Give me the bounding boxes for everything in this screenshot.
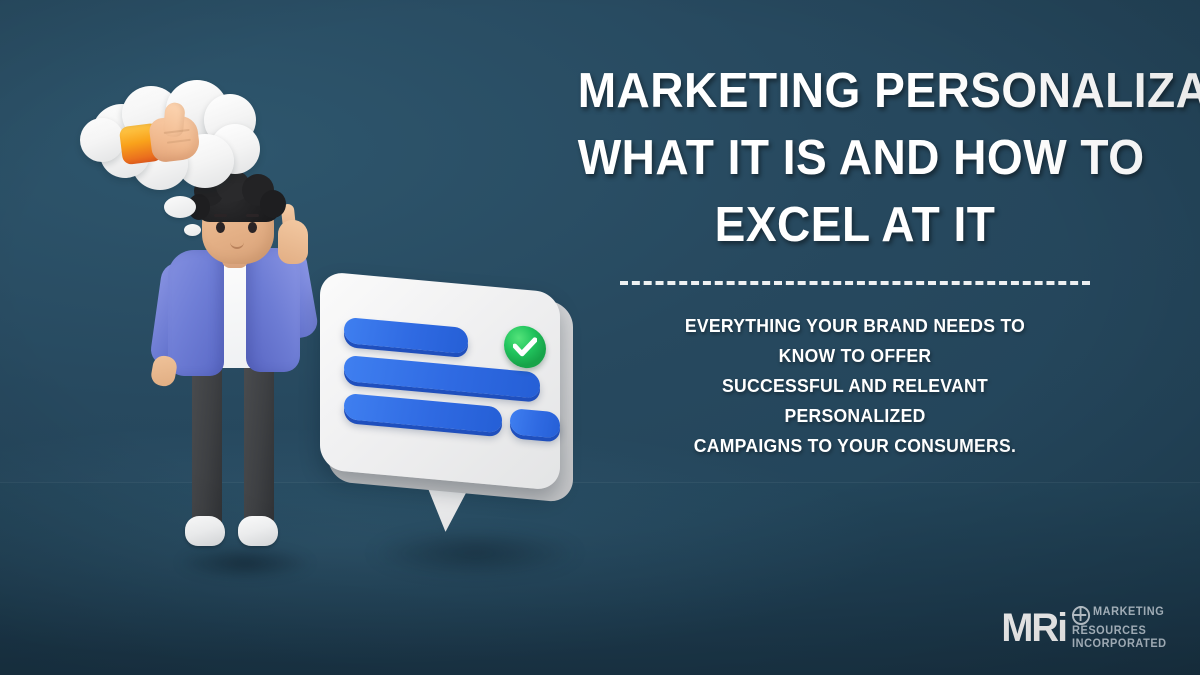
eyebrow-right bbox=[246, 214, 259, 217]
headline-block: MARKETING PERSONALIZATION: WHAT IT IS AN… bbox=[560, 58, 1150, 461]
thought-bubble bbox=[80, 78, 265, 198]
eye-left bbox=[216, 222, 225, 233]
shoe-left bbox=[185, 516, 225, 546]
brand-logo: MRi MARKETING RESOURCES INCORPORATED bbox=[1000, 606, 1172, 650]
content-bar bbox=[344, 393, 502, 433]
eyebrow-left bbox=[214, 214, 227, 217]
headline-line-1: MARKETING PERSONALIZATION: bbox=[578, 58, 1133, 125]
subcopy-line-1: EVERYTHING YOUR BRAND NEEDS TO KNOW TO O… bbox=[656, 311, 1055, 371]
hand-right bbox=[278, 220, 308, 264]
thumbs-up-icon bbox=[117, 99, 212, 171]
subcopy-block: EVERYTHING YOUR BRAND NEEDS TO KNOW TO O… bbox=[656, 311, 1055, 461]
speech-bubble-card bbox=[318, 278, 570, 528]
globe-icon bbox=[1072, 606, 1090, 625]
leg-right bbox=[244, 348, 274, 528]
thought-dot-small bbox=[184, 224, 201, 236]
logo-word-resources: RESOURCES bbox=[1072, 625, 1167, 638]
eye-right bbox=[248, 222, 257, 233]
headline-line-2: WHAT IT IS AND HOW TO bbox=[578, 125, 1133, 192]
subcopy-line-3: CAMPAIGNS TO YOUR CONSUMERS. bbox=[656, 431, 1055, 461]
cloud-lobe bbox=[80, 118, 124, 162]
poster-canvas: MARKETING PERSONALIZATION: WHAT IT IS AN… bbox=[0, 0, 1200, 675]
headline-line-3: EXCEL AT IT bbox=[578, 192, 1133, 259]
jacket-right-panel bbox=[246, 248, 300, 372]
thought-dot-large bbox=[164, 196, 196, 218]
content-bar bbox=[344, 317, 468, 354]
logo-wordmark: MRi bbox=[1001, 608, 1066, 648]
dashed-divider bbox=[620, 281, 1090, 285]
character-legs bbox=[182, 348, 292, 538]
logo-tagline: MARKETING RESOURCES INCORPORATED bbox=[1072, 606, 1172, 650]
shoe-right bbox=[238, 516, 278, 546]
jacket-left-panel bbox=[168, 250, 224, 376]
subcopy-line-2: SUCCESSFUL AND RELEVANT PERSONALIZED bbox=[656, 371, 1055, 431]
card-content-bars bbox=[318, 267, 570, 505]
speech-card-shadow bbox=[330, 520, 620, 586]
content-bar bbox=[510, 408, 560, 439]
logo-word-incorporated: INCORPORATED bbox=[1072, 638, 1167, 651]
logo-word-marketing: MARKETING bbox=[1093, 606, 1164, 619]
hand-left bbox=[150, 354, 179, 388]
